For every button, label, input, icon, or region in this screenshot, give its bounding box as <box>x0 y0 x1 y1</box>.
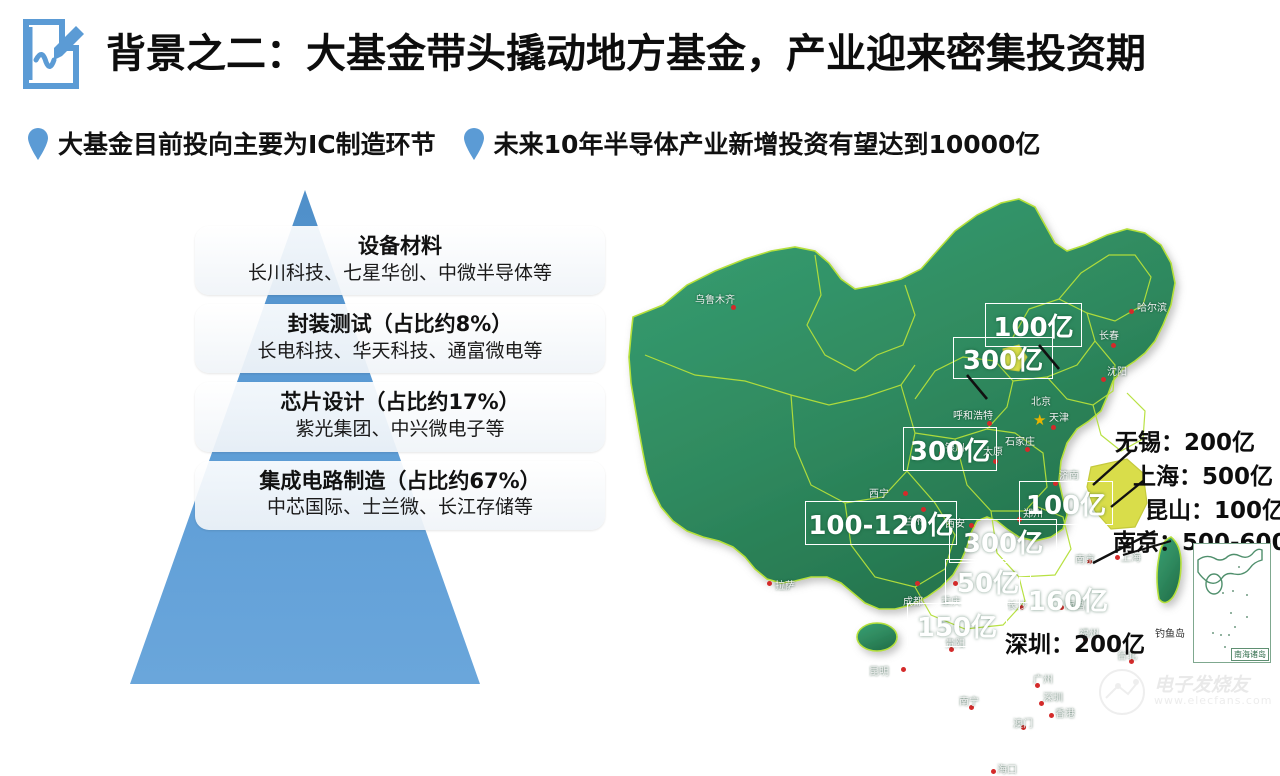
callout-kunshan[interactable]: 昆山：100亿 <box>1145 491 1280 525</box>
investment-box-sichuan[interactable]: 100-120亿 <box>805 501 957 545</box>
pyramid-layer-companies: 中芯国际、士兰微、长江存储等 <box>205 495 595 520</box>
map-pin-icon <box>462 127 486 161</box>
pyramid-layer-packaging[interactable]: 封装测试（占比约8%） 长电科技、华天科技、通富微电等 <box>195 304 605 373</box>
pyramid-layer-title: 设备材料 <box>205 233 595 261</box>
city-dot <box>1101 377 1106 382</box>
subtitle-item-1: 大基金目前投向主要为IC制造环节 <box>26 127 436 161</box>
city-dot <box>1051 425 1056 430</box>
map-pin-icon <box>26 127 50 161</box>
subtitle-text-2: 未来10年半导体产业新增投资有望达到10000亿 <box>494 132 1041 157</box>
city-label-changchun: 长春 <box>1099 327 1119 342</box>
site-watermark: 电子发烧友 www.elecfans.com <box>1096 666 1272 716</box>
investment-box-beijing[interactable]: 300亿 <box>953 337 1053 379</box>
subtitle-text-1: 大基金目前投向主要为IC制造环节 <box>58 132 436 157</box>
pyramid-layer-manufacturing[interactable]: 集成电路制造（占比约67%） 中芯国际、士兰微、长江存储等 <box>195 461 605 530</box>
pyramid-layer-design[interactable]: 芯片设计（占比约17%） 紫光集团、中兴微电子等 <box>195 382 605 451</box>
city-label-nanjing: 南京 <box>1075 551 1095 566</box>
city-label-lhasa: 拉萨 <box>775 577 795 592</box>
city-label-nanning: 南宁 <box>959 693 979 708</box>
city-dot <box>991 769 996 774</box>
city-label-hongkong: 香港 <box>1055 705 1075 720</box>
city-label-urumqi: 乌鲁木齐 <box>695 291 735 306</box>
city-dot <box>1111 343 1116 348</box>
city-label-kunming: 昆明 <box>869 663 889 678</box>
pyramid-layer-companies: 长电科技、华天科技、通富微电等 <box>205 339 595 364</box>
city-label-shenyang: 沈阳 <box>1107 363 1127 378</box>
watermark-brand: 电子发烧友 <box>1154 670 1249 697</box>
city-dot <box>1049 713 1054 718</box>
pyramid-diagram: 设备材料 长川科技、七星华创、中微半导体等 封装测试（占比约8%） 长电科技、华… <box>0 180 640 680</box>
document-pen-icon <box>18 18 92 90</box>
city-label-shenzhen: 深圳 <box>1043 689 1063 704</box>
investment-box-fujian[interactable]: 160亿 <box>1019 577 1117 621</box>
slide-root: 背景之二：大基金带头撬动地方基金，产业迎来密集投资期 大基金目前投向主要为IC制… <box>0 0 1280 720</box>
page-title: 背景之二：大基金带头撬动地方基金，产业迎来密集投资期 <box>106 34 1146 74</box>
city-dot <box>1129 309 1134 314</box>
investment-box-guangxi[interactable]: 150亿 <box>907 603 1007 647</box>
city-label-xining: 西宁 <box>869 485 889 500</box>
subtitle-item-2: 未来10年半导体产业新增投资有望达到10000亿 <box>462 127 1041 161</box>
capital-star-icon: ★ <box>1033 413 1046 428</box>
city-label-guangzhou: 广州 <box>1033 671 1053 686</box>
city-label-beijing: 北京 <box>1031 393 1051 408</box>
pyramid-layer-title: 封装测试（占比约8%） <box>205 311 595 339</box>
city-label-diaoyudao: 钓鱼岛 <box>1155 625 1185 640</box>
city-label-haikou: 海口 <box>997 761 1017 776</box>
china-investment-map: 乌鲁木齐 哈尔滨 长春 沈阳 呼和浩特 ★ 北京 天津 石家庄 银川 太原 济南… <box>615 185 1280 685</box>
pyramid-card-list: 设备材料 长川科技、七星华创、中微半导体等 封装测试（占比约8%） 长电科技、华… <box>195 226 605 539</box>
city-dot <box>901 667 906 672</box>
investment-box-shaanxi[interactable]: 300亿 <box>903 427 997 471</box>
city-label-tianjin: 天津 <box>1049 409 1069 424</box>
callout-shanghai[interactable]: 上海：500亿 <box>1133 457 1273 491</box>
watermark-url: www.elecfans.com <box>1154 694 1272 707</box>
callout-shenzhen[interactable]: 深圳：200亿 <box>1005 625 1145 659</box>
city-dot <box>767 581 772 586</box>
city-label-shijiazhuang: 石家庄 <box>1005 433 1035 448</box>
pyramid-layer-companies: 长川科技、七星华创、中微半导体等 <box>205 261 595 286</box>
investment-box-hubei[interactable]: 300亿 <box>949 519 1057 563</box>
city-label-hohhot: 呼和浩特 <box>953 407 993 422</box>
city-dot <box>903 491 908 496</box>
south-sea-islands-inset: 南海诸岛 <box>1193 543 1271 663</box>
subtitle-row: 大基金目前投向主要为IC制造环节 未来10年半导体产业新增投资有望达到10000… <box>26 120 1280 168</box>
callout-wuxi[interactable]: 无锡：200亿 <box>1115 423 1255 457</box>
slide-header: 背景之二：大基金带头撬动地方基金，产业迎来密集投资期 <box>0 14 1280 94</box>
pyramid-layer-title: 芯片设计（占比约17%） <box>205 389 595 417</box>
city-dot <box>915 581 920 586</box>
inset-label-south-sea: 南海诸岛 <box>1231 648 1269 661</box>
pyramid-layer-equipment[interactable]: 设备材料 长川科技、七星华创、中微半导体等 <box>195 226 605 295</box>
city-label-macau: 澳门 <box>1013 715 1033 730</box>
city-label-jinan: 济南 <box>1059 467 1079 482</box>
pyramid-layer-companies: 紫光集团、中兴微电子等 <box>205 417 595 442</box>
pyramid-layer-title: 集成电路制造（占比约67%） <box>205 468 595 496</box>
city-label-harbin: 哈尔滨 <box>1137 299 1167 314</box>
